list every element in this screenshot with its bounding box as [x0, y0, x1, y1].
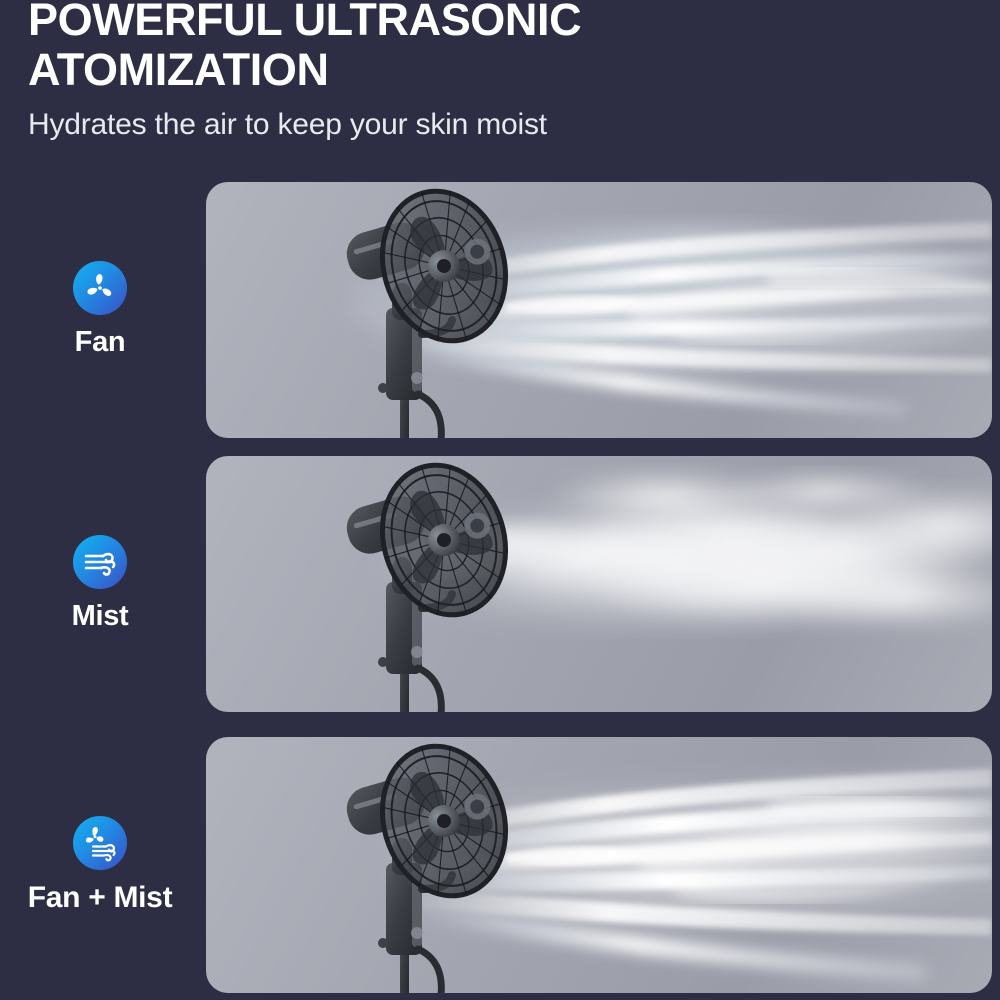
- page-subtitle: Hydrates the air to keep your skin moist: [28, 108, 547, 142]
- panel-background: [206, 456, 992, 712]
- fan-mist-mode-photo: [206, 737, 992, 993]
- fan-mode-photo: [206, 182, 992, 438]
- mist-mode-photo: [206, 456, 992, 712]
- pedestal-fan-illustration: [294, 743, 524, 993]
- panel-background: [206, 737, 992, 993]
- mode-label-fan: Fan: [75, 326, 126, 359]
- mode-label-fan-mist: Fan + Mist: [28, 881, 173, 915]
- fan-and-wind-icon: [73, 816, 127, 870]
- mode-row-fan: Fan: [0, 182, 1000, 438]
- fan-blades-icon: [73, 261, 127, 315]
- panel-background: [206, 182, 992, 438]
- pedestal-fan-illustration: [294, 462, 524, 712]
- header: POWERFUL ULTRASONIC ATOMIZATION Hydrates…: [0, 0, 1000, 170]
- mode-row-fan-mist: Fan + Mist: [0, 737, 1000, 993]
- mode-label-group-fan: Fan: [0, 182, 200, 438]
- pedestal-fan-illustration: [294, 188, 524, 438]
- mode-label-group-mist: Mist: [0, 456, 200, 712]
- wind-lines-icon: [73, 535, 127, 589]
- page-title: POWERFUL ULTRASONIC ATOMIZATION: [28, 0, 968, 95]
- mode-label-mist: Mist: [72, 600, 129, 633]
- mode-label-group-fan-mist: Fan + Mist: [0, 737, 200, 993]
- mode-row-mist: Mist: [0, 456, 1000, 712]
